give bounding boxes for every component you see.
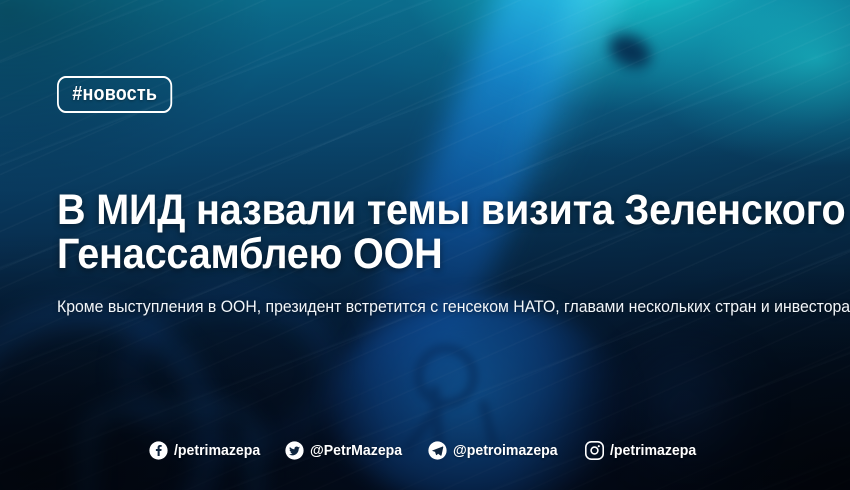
social-link-telegram[interactable]: @petroimazepa (428, 441, 564, 460)
news-card: #новость В МИД назвали темы визита Зелен… (0, 0, 850, 490)
social-link-instagram[interactable]: /petrimazepa (585, 441, 702, 460)
social-handle-facebook: /petrimazepa (174, 442, 260, 459)
social-handle-twitter: @PetrMazepa (310, 442, 402, 459)
social-handle-telegram: @petroimazepa (453, 442, 558, 459)
page-title: В МИД назвали темы визита Зеленского на … (57, 188, 729, 276)
social-handle-instagram: /petrimazepa (610, 442, 696, 459)
telegram-icon (428, 441, 447, 460)
news-tag-label: #новость (72, 83, 157, 106)
social-link-twitter[interactable]: @PetrMazepa (285, 441, 408, 460)
social-link-facebook[interactable]: /petrimazepa (149, 441, 266, 460)
page-subtitle: Кроме выступления в ООН, президент встре… (57, 297, 850, 317)
social-links-bar: /petrimazepa @PetrMazepa @petroimazepa (0, 436, 850, 464)
instagram-icon (585, 441, 604, 460)
facebook-icon (149, 441, 168, 460)
headline-line-1: В МИД назвали темы визита Зеленского на (57, 188, 729, 232)
twitter-icon (285, 441, 304, 460)
news-tag-badge[interactable]: #новость (57, 76, 172, 113)
card-content: #новость В МИД назвали темы визита Зелен… (0, 0, 850, 490)
headline-line-2: Генассамблею ООН (57, 232, 729, 276)
